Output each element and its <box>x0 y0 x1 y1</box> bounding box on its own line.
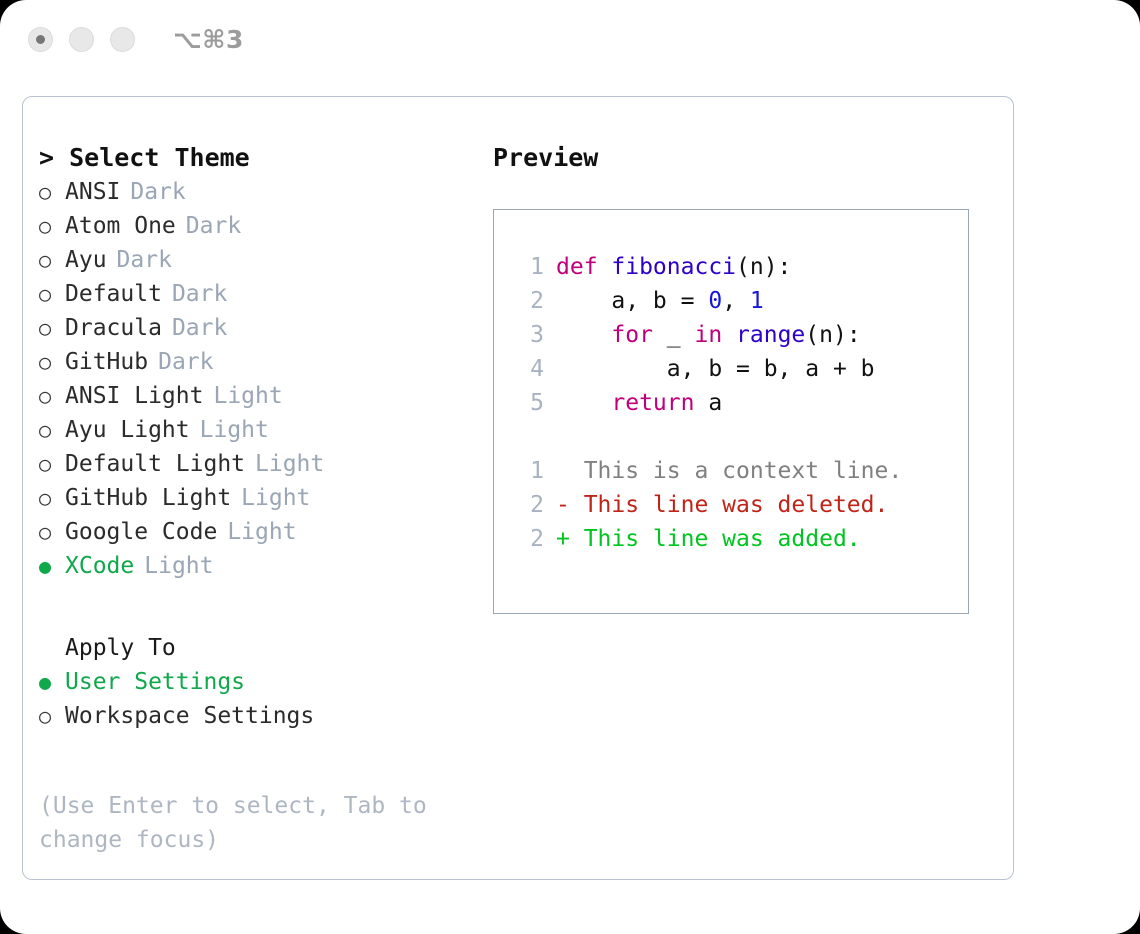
theme-variant-badge: Light <box>144 549 213 583</box>
theme-variant-badge: Light <box>241 481 310 515</box>
window-dot-3[interactable] <box>110 27 135 52</box>
radio-unselected-icon: ○ <box>39 447 65 481</box>
diff-line: 2+ This line was added. <box>510 522 968 556</box>
window-dot-active-inner <box>36 35 45 44</box>
apply-to-list[interactable]: ●User Settings○Workspace Settings <box>39 665 493 733</box>
radio-unselected-icon: ○ <box>39 515 65 549</box>
theme-option[interactable]: ●XCodeLight <box>39 549 493 583</box>
theme-label: ANSI Light <box>65 379 203 413</box>
apply-to-heading: Apply To <box>39 631 493 665</box>
radio-unselected-icon: ○ <box>39 175 65 209</box>
preview-column: Preview 1def fibonacci(n):2 a, b = 0, 13… <box>493 141 993 857</box>
token-pl: a <box>708 390 722 416</box>
token-pl: _ <box>667 322 695 348</box>
radio-selected-icon: ● <box>39 549 65 583</box>
diff-line: 2- This line was deleted. <box>510 488 968 522</box>
token-num: 0 <box>708 288 722 314</box>
token-pl: , <box>722 288 750 314</box>
theme-label: Default <box>65 277 162 311</box>
line-content: This is a context line. <box>556 454 902 488</box>
theme-label: Default Light <box>65 447 245 481</box>
theme-variant-badge: Dark <box>158 345 213 379</box>
theme-option[interactable]: ○Default LightLight <box>39 447 493 481</box>
theme-option[interactable]: ○ANSIDark <box>39 175 493 209</box>
apply-to-label: User Settings <box>65 665 245 699</box>
code-line: 1def fibonacci(n): <box>510 250 968 284</box>
theme-selector-panel: > Select Theme ○ANSIDark○Atom OneDark○Ay… <box>22 96 1014 880</box>
theme-list[interactable]: ○ANSIDark○Atom OneDark○AyuDark○DefaultDa… <box>39 175 493 583</box>
token-num: 1 <box>750 288 764 314</box>
radio-unselected-icon: ○ <box>39 243 65 277</box>
token-kw: in <box>694 322 736 348</box>
apply-to-option[interactable]: ●User Settings <box>39 665 493 699</box>
theme-label: GitHub Light <box>65 481 231 515</box>
line-number: 1 <box>510 250 544 284</box>
theme-label: GitHub <box>65 345 148 379</box>
code-preview-box: 1def fibonacci(n):2 a, b = 0, 13 for _ i… <box>493 209 969 614</box>
token-kw: for <box>611 322 666 348</box>
line-content: a, b = b, a + b <box>556 352 875 386</box>
line-number: 5 <box>510 386 544 420</box>
radio-unselected-icon: ○ <box>39 481 65 515</box>
apply-to-label: Workspace Settings <box>65 699 314 733</box>
radio-unselected-icon: ○ <box>39 699 65 733</box>
theme-option[interactable]: ○GitHubDark <box>39 345 493 379</box>
theme-variant-badge: Dark <box>172 311 227 345</box>
window-dot-2[interactable] <box>69 27 94 52</box>
keyboard-shortcut-label: ⌥⌘3 <box>173 25 244 54</box>
radio-unselected-icon: ○ <box>39 277 65 311</box>
code-line: 3 for _ in range(n): <box>510 318 968 352</box>
line-number: 3 <box>510 318 544 352</box>
theme-variant-badge: Light <box>255 447 324 481</box>
theme-option[interactable]: ○ANSI LightLight <box>39 379 493 413</box>
token-pl: a, b = b, a + b <box>556 356 875 382</box>
theme-variant-badge: Light <box>200 413 269 447</box>
theme-label: Ayu Light <box>65 413 190 447</box>
theme-list-column: > Select Theme ○ANSIDark○Atom OneDark○Ay… <box>23 141 493 857</box>
token-pl: (n): <box>736 254 791 280</box>
code-sample: 1def fibonacci(n):2 a, b = 0, 13 for _ i… <box>510 250 968 420</box>
theme-variant-badge: Dark <box>172 277 227 311</box>
token-pl: (n): <box>805 322 860 348</box>
line-content: return a <box>556 386 722 420</box>
token-add: + This line was added. <box>556 526 861 552</box>
token-kw: return <box>611 390 708 416</box>
token-pl: a, b = <box>556 288 708 314</box>
theme-option[interactable]: ○Ayu LightLight <box>39 413 493 447</box>
theme-variant-badge: Dark <box>186 209 241 243</box>
radio-unselected-icon: ○ <box>39 379 65 413</box>
app-window: ⌥⌘3 > Select Theme ○ANSIDark○Atom OneDar… <box>0 0 1140 934</box>
theme-variant-badge: Dark <box>117 243 172 277</box>
page-title: > Select Theme <box>39 141 493 175</box>
theme-label: Dracula <box>65 311 162 345</box>
window-dot-active[interactable] <box>28 27 53 52</box>
code-diff-spacer <box>510 420 968 454</box>
line-content: def fibonacci(n): <box>556 250 791 284</box>
token-kw: def <box>556 254 611 280</box>
radio-unselected-icon: ○ <box>39 311 65 345</box>
radio-selected-icon: ● <box>39 665 65 699</box>
theme-label: Ayu <box>65 243 107 277</box>
token-del: - This line was deleted. <box>556 492 888 518</box>
diff-sample: 1 This is a context line.2- This line wa… <box>510 454 968 556</box>
theme-label: Google Code <box>65 515 217 549</box>
theme-option[interactable]: ○DraculaDark <box>39 311 493 345</box>
theme-option[interactable]: ○GitHub LightLight <box>39 481 493 515</box>
line-content: for _ in range(n): <box>556 318 861 352</box>
theme-variant-badge: Light <box>213 379 282 413</box>
code-line: 2 a, b = 0, 1 <box>510 284 968 318</box>
theme-option[interactable]: ○Google CodeLight <box>39 515 493 549</box>
theme-variant-badge: Dark <box>130 175 185 209</box>
line-number: 4 <box>510 352 544 386</box>
theme-option[interactable]: ○Atom OneDark <box>39 209 493 243</box>
theme-option[interactable]: ○AyuDark <box>39 243 493 277</box>
apply-to-option[interactable]: ○Workspace Settings <box>39 699 493 733</box>
theme-label: Atom One <box>65 209 176 243</box>
line-content: + This line was added. <box>556 522 861 556</box>
line-number: 1 <box>510 454 544 488</box>
line-number: 2 <box>510 488 544 522</box>
code-line: 4 a, b = b, a + b <box>510 352 968 386</box>
preview-title: Preview <box>493 141 993 175</box>
radio-unselected-icon: ○ <box>39 413 65 447</box>
line-number: 2 <box>510 284 544 318</box>
radio-unselected-icon: ○ <box>39 209 65 243</box>
title-bar: ⌥⌘3 <box>0 0 1140 78</box>
token-pl <box>556 322 611 348</box>
token-ctx: This is a context line. <box>556 458 902 484</box>
line-content: a, b = 0, 1 <box>556 284 764 318</box>
radio-unselected-icon: ○ <box>39 345 65 379</box>
line-content: - This line was deleted. <box>556 488 888 522</box>
token-fn: range <box>736 322 805 348</box>
theme-option[interactable]: ○DefaultDark <box>39 277 493 311</box>
theme-label: ANSI <box>65 175 120 209</box>
diff-line: 1 This is a context line. <box>510 454 968 488</box>
token-pl <box>556 390 611 416</box>
line-number: 2 <box>510 522 544 556</box>
token-fn: fibonacci <box>611 254 736 280</box>
theme-variant-badge: Light <box>227 515 296 549</box>
keyboard-hint: (Use Enter to select, Tab to change focu… <box>39 789 449 857</box>
code-line: 5 return a <box>510 386 968 420</box>
theme-label: XCode <box>65 549 134 583</box>
